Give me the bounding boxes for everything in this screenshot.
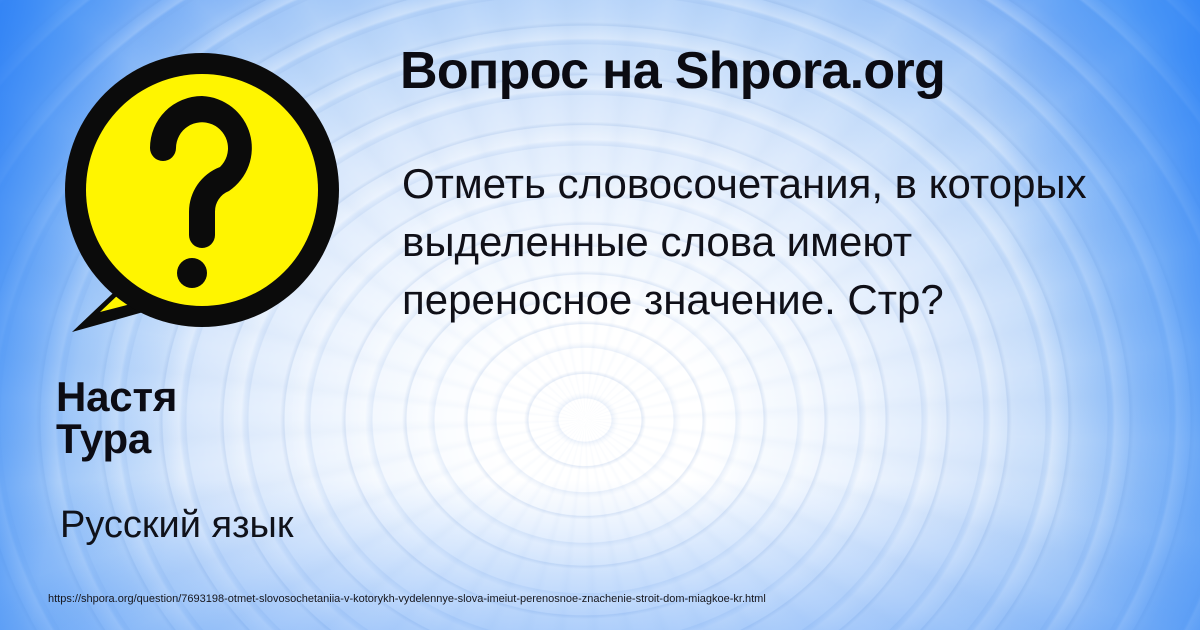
question-mark-dot [177,258,207,288]
card-content: Вопрос на Shpora.org Отметь словосочетан… [0,0,1200,630]
question-speech-bubble-icon [54,46,350,342]
author-name-line-2: Тура [56,418,386,460]
source-url: https://shpora.org/question/7693198-otme… [48,592,1148,606]
author-name-line-1: Настя [56,376,386,418]
page-title: Вопрос на Shpora.org [400,44,1160,99]
author-name: Настя Тура [56,376,386,460]
question-text: Отметь словосочетания, в которых выделен… [402,155,1154,329]
share-card: Вопрос на Shpora.org Отметь словосочетан… [0,0,1200,630]
subject-label: Русский язык [60,506,400,546]
